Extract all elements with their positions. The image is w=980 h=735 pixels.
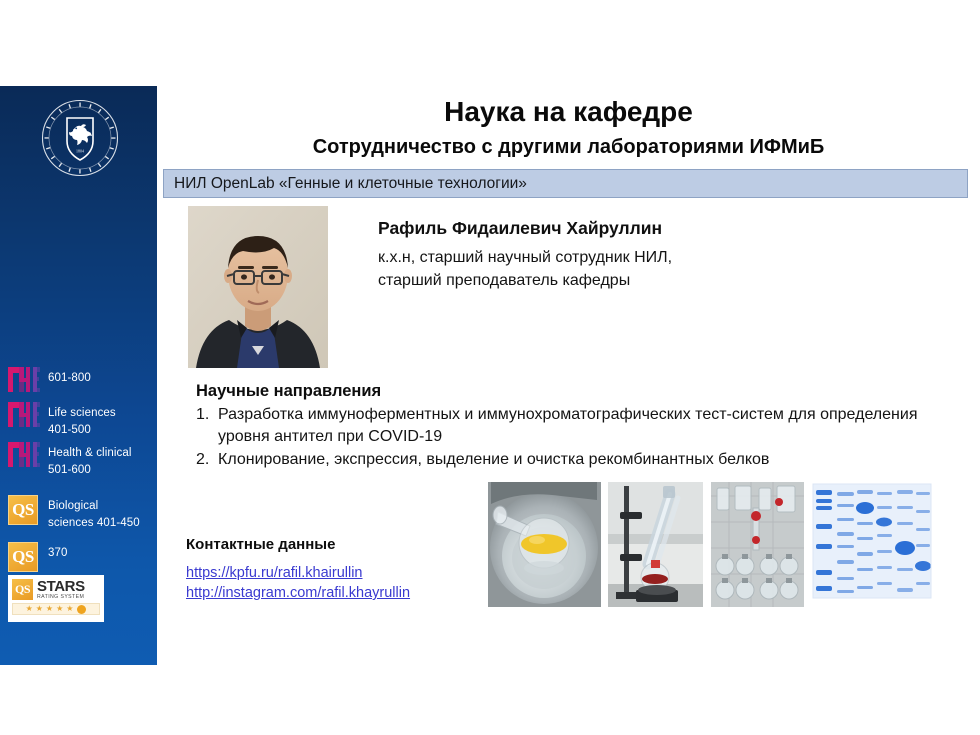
research-heading: Научные направления — [196, 382, 381, 401]
lab-photo-distillation-setup — [608, 482, 703, 607]
research-list-item: 2. Клонирование, экспрессия, выделение и… — [196, 449, 966, 471]
star-badge-dot-icon — [77, 605, 86, 614]
page-title: Наука на кафедре — [157, 96, 980, 128]
qs-stars-rating-bar: ★ ★ ★ ★ ★ — [12, 603, 100, 615]
contact-link-kpfu[interactable]: https://kpfu.ru/rafil.khairullin — [186, 563, 410, 583]
research-item-number: 1. — [196, 404, 209, 426]
portrait-photo — [188, 206, 328, 368]
slide-canvas: 1804 601-800 — [0, 0, 980, 735]
page-subtitle: Сотрудничество с другими лабораториями И… — [157, 136, 980, 159]
left-sidebar: 1804 601-800 — [0, 86, 157, 665]
lab-banner: НИЛ OpenLab «Генные и клеточные технолог… — [163, 169, 968, 198]
svg-text:1804: 1804 — [76, 149, 84, 154]
star-icon: ★ — [26, 605, 33, 613]
ranking-text: Life sciences 401-500 — [48, 402, 116, 439]
research-item-number: 2. — [196, 449, 209, 471]
lab-banner-label: НИЛ OpenLab «Генные и клеточные технолог… — [174, 175, 527, 193]
ranking-text: Health & clinical 501-600 — [48, 442, 132, 479]
kfu-emblem-icon: 1804 — [41, 99, 119, 177]
lab-photo-flask-in-bath — [488, 482, 601, 607]
ranking-text: 601-800 — [48, 367, 91, 387]
contact-link-instagram[interactable]: http://instagram.com/rafil.khayrullin — [186, 583, 410, 603]
research-item-text: Клонирование, экспрессия, выделение и оч… — [218, 451, 769, 468]
ranking-text: 370 — [48, 542, 68, 562]
the-logo-icon — [8, 367, 40, 393]
ranking-row-the-health-clinical: Health & clinical 501-600 — [8, 442, 156, 479]
ranking-row-qs-biological: QS Biological sciences 401-450 — [8, 495, 156, 532]
ranking-row-the-life-sciences: Life sciences 401-500 — [8, 402, 156, 439]
qs-logo-icon: QS — [8, 495, 40, 521]
qs-logo-label: QS — [8, 542, 38, 572]
research-item-text: Разработка иммуноферментных и иммунохром… — [218, 406, 917, 445]
ranking-row-qs-overall: QS 370 — [8, 542, 156, 568]
lab-photo-sds-page-gel — [811, 482, 936, 604]
star-icon: ★ — [66, 605, 73, 613]
ranking-text: Biological sciences 401-450 — [48, 495, 140, 532]
star-icon: ★ — [46, 605, 53, 613]
person-name: Рафиль Фидаилевич Хайруллин — [378, 218, 662, 239]
ranking-row-the-overall: 601-800 — [8, 367, 156, 393]
person-role: к.х.н, старший научный сотрудник НИЛ, ст… — [378, 246, 672, 292]
qs-logo-icon: QS — [8, 542, 40, 568]
the-logo-icon — [8, 402, 40, 428]
qs-stars-badge: QS STARS RATING SYSTEM ★ ★ ★ ★ ★ — [8, 575, 104, 622]
the-logo-icon — [8, 442, 40, 468]
lab-photo-glassware-rack — [711, 482, 804, 607]
star-icon: ★ — [56, 605, 63, 613]
research-list: 1. Разработка иммуноферментных и иммунох… — [196, 404, 966, 472]
qs-stars-subtitle: RATING SYSTEM — [37, 595, 85, 600]
qs-stars-title: STARS — [37, 579, 85, 594]
contacts-links: https://kpfu.ru/rafil.khairullin http://… — [186, 563, 410, 603]
qs-logo-label: QS — [8, 495, 38, 525]
contacts-heading: Контактные данные — [186, 536, 335, 553]
research-list-item: 1. Разработка иммуноферментных и иммунох… — [196, 404, 966, 448]
qs-stars-logo-icon: QS — [12, 579, 33, 600]
star-icon: ★ — [36, 605, 43, 613]
